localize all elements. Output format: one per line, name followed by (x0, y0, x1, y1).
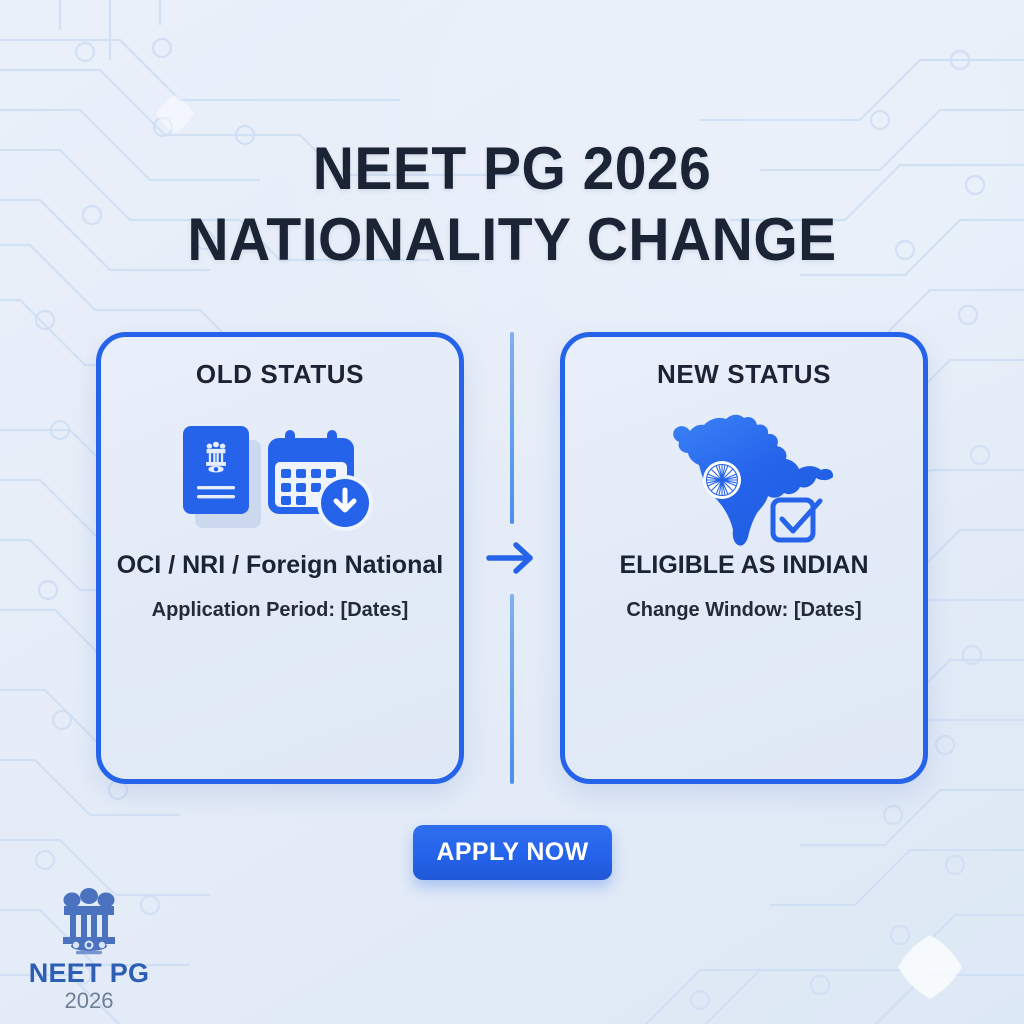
brand-name: NEET PG (28, 958, 150, 989)
page-title: NEET PG 2026 NATIONALITY CHANGE (0, 138, 1024, 270)
divider-line-bottom (510, 594, 514, 784)
title-line-2: NATIONALITY CHANGE (26, 209, 999, 270)
new-status-card: NEW STATUS (560, 332, 928, 784)
passport-icon (183, 426, 261, 528)
old-status-heading: OLD STATUS (101, 359, 459, 390)
new-status-main-label: ELIGIBLE AS INDIAN (565, 551, 923, 580)
brand-logo: NEET PG 2026 (28, 884, 150, 1014)
india-map-icon (673, 414, 833, 545)
new-status-heading: NEW STATUS (565, 359, 923, 390)
india-state-emblem-icon (52, 884, 126, 956)
old-status-card: OLD STATUS (96, 332, 464, 784)
title-line-1: NEET PG 2026 (26, 138, 999, 199)
old-status-main-label: OCI / NRI / Foreign National (101, 551, 459, 580)
old-status-icon-group (101, 405, 459, 550)
calendar-download-icon (268, 430, 373, 531)
transition-divider (497, 332, 527, 784)
arrow-right-icon (483, 530, 541, 586)
old-status-sub-label: Application Period: [Dates] (101, 599, 459, 622)
divider-line-top (510, 332, 514, 524)
apply-now-button[interactable]: APPLY NOW (413, 825, 612, 880)
brand-year: 2026 (28, 988, 150, 1014)
new-status-sub-label: Change Window: [Dates] (565, 599, 923, 622)
checkbox-checked-icon (773, 500, 820, 540)
new-status-icon-group (565, 405, 923, 550)
